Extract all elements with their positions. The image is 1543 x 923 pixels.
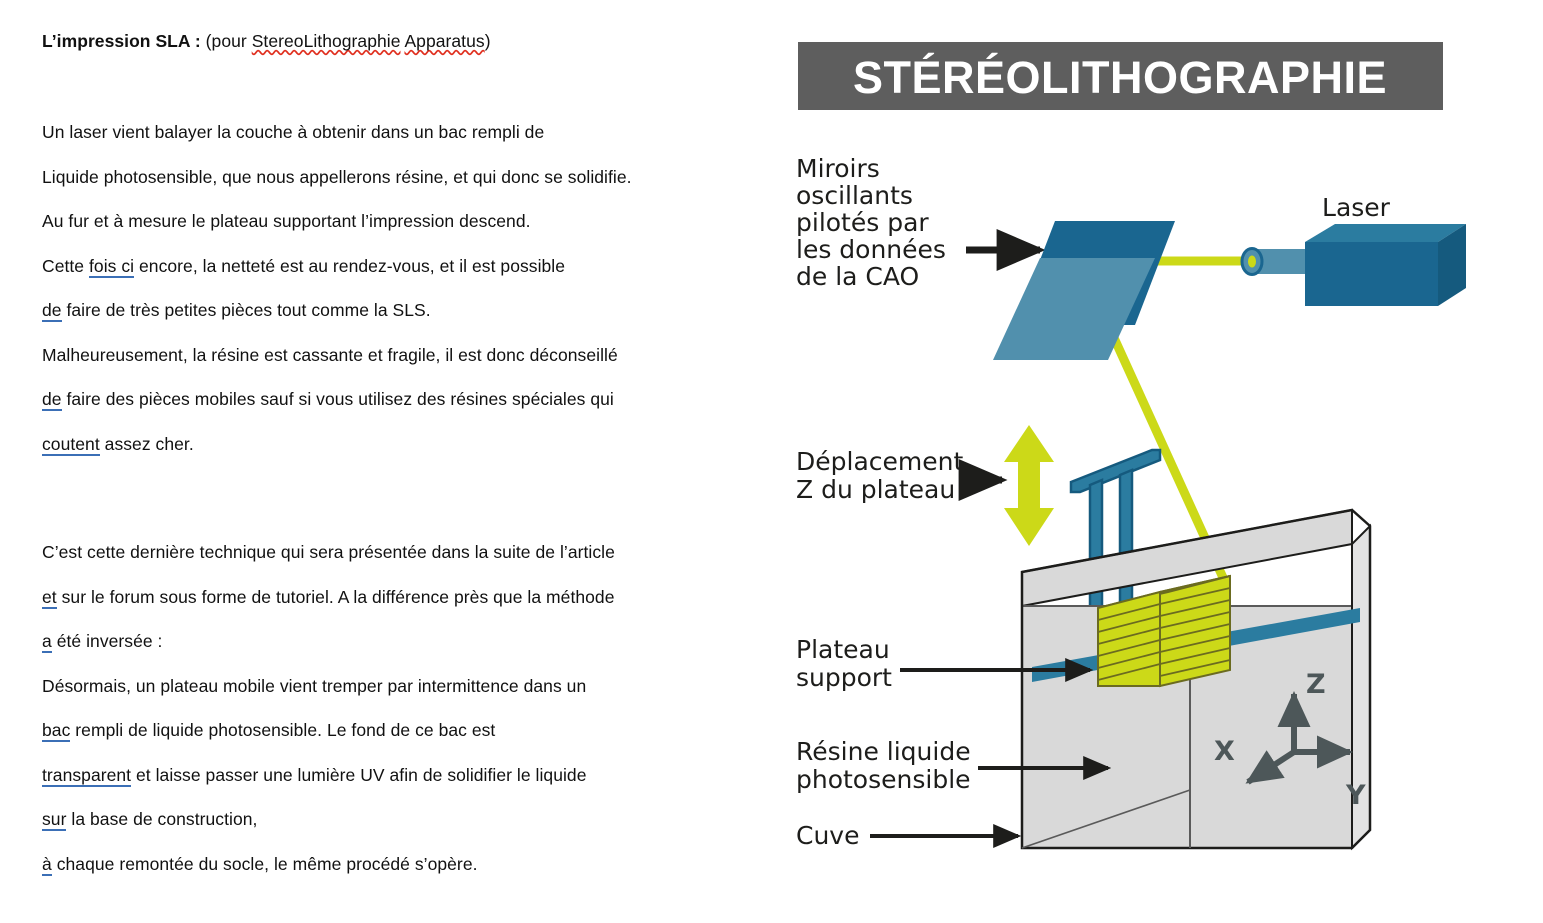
text-line: Cette fois ci encore, la netteté est au … — [42, 244, 772, 289]
text-line: Au fur et à mesure le plateau supportant… — [42, 199, 772, 244]
paragraph-gap — [42, 466, 772, 530]
text-line: Liquide photosensible, que nous appeller… — [42, 155, 772, 200]
line-post: sur le forum sous forme de tutoriel. A l… — [57, 587, 615, 607]
text-line: Malheureusement, la résine est cassante … — [42, 333, 772, 378]
grammar-flag-word: a — [42, 631, 52, 653]
paragraph-two: C’est cette dernière technique qui sera … — [42, 530, 772, 886]
spellcheck-word-stereolithographie: StereoLithographie — [252, 31, 401, 51]
grammar-flag-word: transparent — [42, 765, 131, 787]
mirrors-label-line1: Miroirs — [796, 154, 880, 183]
text-line: bac rempli de liquide photosensible. Le … — [42, 708, 772, 753]
laser-aperture-inner — [1248, 256, 1256, 268]
vat-label: Cuve — [796, 821, 859, 850]
line-post: rempli de liquide photosensible. Le fond… — [70, 720, 495, 740]
line-post: la base de construction, — [66, 809, 257, 829]
laser-emitter-group — [1242, 224, 1466, 306]
z-move-label-line2: Z du plateau — [796, 475, 955, 504]
line-text: Au fur et à mesure le plateau supportant… — [42, 211, 531, 231]
diagram-title-banner: STÉRÉOLITHOGRAPHIE — [798, 42, 1443, 110]
mirrors-label-line4: les données — [796, 235, 946, 264]
mirrors-label-line2: oscillants — [796, 181, 913, 210]
grammar-flag-word: à — [42, 854, 52, 876]
z-axis-double-arrow-icon — [1004, 425, 1054, 546]
grammar-flag-word: de — [42, 300, 62, 322]
grammar-flag-word: et — [42, 587, 57, 609]
grammar-flag-word: bac — [42, 720, 70, 742]
mirrors-label-group: Miroirs oscillants pilotés par les donné… — [796, 154, 1040, 291]
text-line: transparent et laisse passer une lumière… — [42, 753, 772, 798]
mirror-front-light — [993, 258, 1155, 360]
mirrors-label-line3: pilotés par — [796, 208, 929, 237]
text-line: sur la base de construction, — [42, 797, 772, 842]
document-heading: L’impression SLA : (pour StereoLithograp… — [42, 24, 772, 58]
heading-rest-after: ) — [485, 31, 491, 51]
resin-label-line2: photosensible — [796, 765, 971, 794]
mirrors-label-line5: de la CAO — [796, 262, 919, 291]
spellcheck-word-apparatus: Apparatus — [404, 31, 484, 51]
text-line: Un laser vient balayer la couche à obten… — [42, 110, 772, 155]
text-line: à chaque remontée du socle, le même proc… — [42, 842, 772, 887]
line-post: et laisse passer une lumière UV afin de … — [131, 765, 586, 785]
paragraph-one: Un laser vient balayer la couche à obten… — [42, 110, 772, 466]
line-post: assez cher. — [100, 434, 194, 454]
text-line: a été inversée : — [42, 619, 772, 664]
stack-side-face — [1160, 576, 1230, 686]
line-text: Liquide photosensible, que nous appeller… — [42, 167, 632, 187]
banner-title-text: STÉRÉOLITHOGRAPHIE — [853, 52, 1387, 103]
laser-box-front — [1305, 242, 1438, 306]
platform-label-line2: support — [796, 663, 892, 692]
vat-label-group: Cuve — [796, 821, 1018, 850]
line-post: été inversée : — [52, 631, 163, 651]
elevator-top-plate — [1071, 450, 1160, 492]
z-displacement-label-group: Déplacement Z du plateau — [796, 447, 1002, 504]
line-post: faire des pièces mobiles sauf si vous ut… — [62, 389, 614, 409]
line-pre: Cette — [42, 256, 89, 276]
line-text: Désormais, un plateau mobile vient tremp… — [42, 676, 586, 696]
text-line: de faire des pièces mobiles sauf si vous… — [42, 377, 772, 422]
line-text: Malheureusement, la résine est cassante … — [42, 345, 618, 365]
axis-label-z: Z — [1306, 669, 1326, 700]
heading-bold-part: L’impression SLA : — [42, 31, 201, 51]
laser-label: Laser — [1322, 193, 1391, 222]
line-post: faire de très petites pièces tout comme … — [62, 300, 431, 320]
axis-label-y: Y — [1345, 780, 1366, 811]
text-line: coutent assez cher. — [42, 422, 772, 467]
line-post: encore, la netteté est au rendez-vous, e… — [134, 256, 565, 276]
oscillating-mirrors-group — [993, 221, 1175, 360]
platform-label-line1: Plateau — [796, 635, 890, 664]
z-move-label-line1: Déplacement — [796, 447, 963, 476]
line-text: C’est cette dernière technique qui sera … — [42, 542, 615, 562]
grammar-flag-word: fois ci — [89, 256, 134, 278]
document-text-column: L’impression SLA : (pour StereoLithograp… — [42, 24, 772, 886]
line-post: chaque remontée du socle, le même procéd… — [52, 854, 478, 874]
grammar-flag-word: de — [42, 389, 62, 411]
grammar-flag-word: coutent — [42, 434, 100, 456]
text-line: et sur le forum sous forme de tutoriel. … — [42, 575, 772, 620]
printed-part-stack — [1098, 576, 1230, 686]
heading-rest-before: (pour — [201, 31, 252, 51]
laser-box-top — [1305, 224, 1466, 242]
axis-label-x: X — [1214, 736, 1235, 767]
resin-label-line1: Résine liquide — [796, 737, 971, 766]
grammar-flag-word: sur — [42, 809, 66, 831]
text-line: Désormais, un plateau mobile vient tremp… — [42, 664, 772, 709]
text-line: C’est cette dernière technique qui sera … — [42, 530, 772, 575]
line-text: Un laser vient balayer la couche à obten… — [42, 122, 544, 142]
text-line: de faire de très petites pièces tout com… — [42, 288, 772, 333]
stereolithography-diagram: STÉRÉOLITHOGRAPHIE Miroirs oscillants pi… — [790, 30, 1490, 890]
